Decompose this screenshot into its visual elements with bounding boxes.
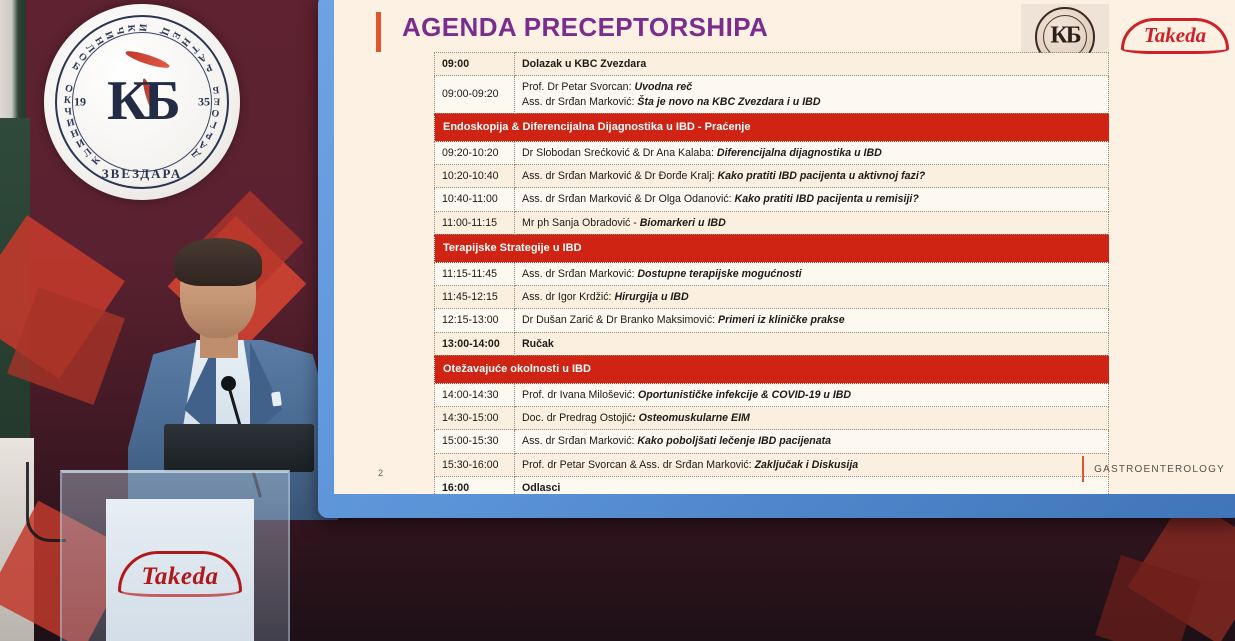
agenda-row: 10:20-10:40Ass. dr Srđan Marković & Dr Đ… <box>435 165 1109 188</box>
agenda-text-segment: Dolazak u KBC Zvezdara <box>522 58 646 70</box>
agenda-row-description: Ass. dr Srđan Marković & Dr Olga Odanovi… <box>515 188 1109 211</box>
agenda-text-segment: Dostupne terapijske mogućnosti <box>637 268 801 280</box>
agenda-row: 16:00Odlasci <box>435 476 1109 494</box>
agenda-row-time: 10:20-10:40 <box>435 165 515 188</box>
page-title: AGENDA PRECEPTORSHIPA <box>402 12 768 43</box>
agenda-row: 10:40-11:00Ass. dr Srđan Marković & Dr O… <box>435 188 1109 211</box>
agenda-row: 09:00-09:20Prof. Dr Petar Svorcan: Uvodn… <box>435 76 1109 114</box>
agenda-row-description: Ass. dr Srđan Marković & Dr Đorđe Kralj:… <box>515 165 1109 188</box>
agenda-text-segment: Ass. dr Srđan Marković & Dr Đorđe Kralj: <box>522 170 717 182</box>
agenda-text-segment: Prof. Dr Petar Svorcan: <box>522 81 634 93</box>
agenda-row-line: Ass. dr Srđan Marković: Šta je novo na K… <box>522 95 1101 109</box>
agenda-section-title: Otežavajuće okolnosti u IBD <box>435 355 1109 383</box>
footer-accent-bar <box>1082 456 1084 482</box>
agenda-row-time: 11:45-12:15 <box>435 286 515 309</box>
agenda-text-segment: Kako poboljšati lečenje IBD pacijenata <box>637 435 831 447</box>
agenda-row-description: Ass. dr Srđan Marković: Kako poboljšati … <box>515 430 1109 453</box>
takeda-logo-podium: Takeda <box>118 551 242 601</box>
slide-footer: GASTROENTEROLOGY <box>1082 456 1225 482</box>
agenda-table: 09:00Dolazak u KBC Zvezdara09:00-09:20Pr… <box>434 52 1109 494</box>
hospital-seal-logo: КЛИНИЧКО БОЛНИЧКИ ЦЕНТАР БЕОГРАД КБ 19 3… <box>44 4 240 200</box>
agenda-row-description: Dr Dušan Zarić & Dr Branko Maksimović: P… <box>515 309 1109 332</box>
agenda-text-segment: Ass. dr Srđan Marković & Dr Olga Odanovi… <box>522 193 735 205</box>
seal-year-left: 19 <box>74 95 86 110</box>
agenda-text-segment: Hirurgija u IBD <box>614 291 688 303</box>
agenda-row: 11:00-11:15Mr ph Sanja Obradović - Bioma… <box>435 211 1109 234</box>
agenda-text-segment: Dr Slobodan Srećković & Dr Ana Kalaba: <box>522 147 717 159</box>
seal-arc-char: Б <box>212 84 220 96</box>
speaker-pocket-square <box>271 391 282 406</box>
agenda-row-time: 13:00-14:00 <box>435 332 515 355</box>
agenda-text-segment: Zaključak i Diskusija <box>755 459 859 471</box>
agenda-text-segment: Primeri iz kliničke prakse <box>718 314 845 326</box>
agenda-row-description: Prof. dr Ivana Milošević: Oportunističke… <box>515 383 1109 406</box>
seal-arc-char: И <box>136 23 148 32</box>
seal-arc-char: К <box>125 24 137 32</box>
agenda-row: 14:30-15:00Doc. dr Predrag Ostojić: Oste… <box>435 407 1109 430</box>
agenda-row: 14:00-14:30Prof. dr Ivana Milošević: Opo… <box>435 383 1109 406</box>
agenda-text-segment: Kako pratiti IBD pacijenta u aktivnoj fa… <box>717 170 925 182</box>
agenda-row-description: Prof. dr Petar Svorcan & Ass. dr Srđan M… <box>515 453 1109 476</box>
agenda-section-title: Endoskopija & Diferencijalna Dijagnostik… <box>435 113 1109 141</box>
agenda-text-segment: Ručak <box>522 338 554 350</box>
agenda-table-body: 09:00Dolazak u KBC Zvezdara09:00-09:20Pr… <box>435 53 1109 495</box>
agenda-row: 11:15-11:45Ass. dr Srđan Marković: Dostu… <box>435 262 1109 285</box>
seal-bottom-text: ЗВЕЗДАРА <box>44 166 240 182</box>
agenda-text-segment: Ass. dr Srđan Marković: <box>522 268 637 280</box>
agenda-row-time: 15:30-16:00 <box>435 453 515 476</box>
microphone-icon <box>221 376 236 391</box>
slide-number: 2 <box>378 468 383 478</box>
agenda-row-time: 11:15-11:45 <box>435 262 515 285</box>
agenda-row: 11:45-12:15Ass. dr Igor Krdžić: Hirurgij… <box>435 286 1109 309</box>
agenda-text-segment: Prof. dr Ivana Milošević: <box>522 389 638 401</box>
agenda-row-time: 10:40-11:00 <box>435 188 515 211</box>
agenda-row-description: Ass. dr Igor Krdžić: Hirurgija u IBD <box>515 286 1109 309</box>
agenda-text-segment: Ass. dr Srđan Marković: <box>522 435 637 447</box>
agenda-row: 15:30-16:00Prof. dr Petar Svorcan & Ass.… <box>435 453 1109 476</box>
title-accent-bar <box>376 12 381 52</box>
projection-screen-bezel: AGENDA PRECEPTORSHIPA КБ Takeda 09:00Dol… <box>318 0 1235 518</box>
agenda-section-title: Terapijske Strategije u IBD <box>435 234 1109 262</box>
agenda-text-segment: Prof. dr Petar Svorcan & Ass. dr Srđan M… <box>522 459 755 471</box>
agenda-row-line: Prof. Dr Petar Svorcan: Uvodna reč <box>522 80 1101 94</box>
agenda-section-header-row: Otežavajuće okolnosti u IBD <box>435 355 1109 383</box>
podium: Takeda <box>60 470 290 641</box>
agenda-row-time: 14:00-14:30 <box>435 383 515 406</box>
agenda-text-segment: Mr ph Sanja Obradović - <box>522 217 640 229</box>
laptop-on-podium <box>164 424 314 472</box>
seal-year-right: 35 <box>198 95 210 110</box>
agenda-text-segment: : Osteomuskularne EIM <box>632 412 750 424</box>
agenda-text-segment: Oportunističke infekcije & COVID-19 u IB… <box>638 389 851 401</box>
seal-arc-char: Ч <box>64 106 72 117</box>
agenda-row-time: 09:00-09:20 <box>435 76 515 114</box>
seal-monogram: КБ <box>107 73 177 129</box>
agenda-text-segment: Dr Dušan Zarić & Dr Branko Maksimović: <box>522 314 718 326</box>
agenda-row-time: 14:30-15:00 <box>435 407 515 430</box>
takeda-wordmark: Takeda <box>141 563 218 591</box>
agenda-section-header-row: Endoskopija & Diferencijalna Dijagnostik… <box>435 113 1109 141</box>
agenda-row: 15:00-15:30Ass. dr Srđan Marković: Kako … <box>435 430 1109 453</box>
agenda-row-description: Prof. Dr Petar Svorcan: Uvodna rečAss. d… <box>515 76 1109 114</box>
agenda-text-segment: Uvodna reč <box>634 81 692 93</box>
agenda-row: 13:00-14:00Ručak <box>435 332 1109 355</box>
takeda-wordmark: Takeda <box>1144 23 1206 48</box>
agenda-row-description: Doc. dr Predrag Ostojić: Osteomuskularne… <box>515 407 1109 430</box>
agenda-row-description: Odlasci <box>515 476 1109 494</box>
presentation-video-frame: КЛИНИЧКО БОЛНИЧКИ ЦЕНТАР БЕОГРАД КБ 19 3… <box>0 0 1235 641</box>
agenda-text-segment: Ass. dr Igor Krdžić: <box>522 291 614 303</box>
speaker-hair <box>174 238 262 286</box>
agenda-text-segment: Šta je novo na KBC Zvezdara i u IBD <box>637 96 820 108</box>
agenda-row-description: Ass. dr Srđan Marković: Dostupne terapij… <box>515 262 1109 285</box>
agenda-text-segment: Odlasci <box>522 482 560 494</box>
takeda-logo-slide: Takeda <box>1121 16 1229 58</box>
agenda-text-segment: Kako pratiti IBD pacijenta u remisiji? <box>735 193 919 205</box>
agenda-row-time: 11:00-11:15 <box>435 211 515 234</box>
podium-sponsor-panel: Takeda <box>106 499 254 641</box>
agenda-section-header-row: Terapijske Strategije u IBD <box>435 234 1109 262</box>
agenda-text-segment: Ass. dr Srđan Marković: <box>522 96 637 108</box>
agenda-row: 12:15-13:00Dr Dušan Zarić & Dr Branko Ma… <box>435 309 1109 332</box>
seal-arc-char: К <box>63 95 71 107</box>
footer-label: GASTROENTEROLOGY <box>1094 464 1225 475</box>
seal-arc-char: Е <box>213 95 220 106</box>
hospital-logo-monogram: КБ <box>1050 22 1079 49</box>
agenda-row: 09:00Dolazak u KBC Zvezdara <box>435 53 1109 76</box>
agenda-row-time: 16:00 <box>435 476 515 494</box>
agenda-text-segment: Doc. dr Predrag Ostojić <box>522 412 632 424</box>
agenda-row-time: 15:00-15:30 <box>435 430 515 453</box>
agenda-row-description: Dolazak u KBC Zvezdara <box>515 53 1109 76</box>
presentation-slide: AGENDA PRECEPTORSHIPA КБ Takeda 09:00Dol… <box>334 0 1235 494</box>
agenda-text-segment: Diferencijalna dijagnostika u IBD <box>717 147 882 159</box>
agenda-row-time: 09:00 <box>435 53 515 76</box>
agenda-row-description: Ručak <box>515 332 1109 355</box>
agenda-row: 09:20-10:20Dr Slobodan Srećković & Dr An… <box>435 141 1109 164</box>
agenda-row-description: Mr ph Sanja Obradović - Biomarkeri u IBD <box>515 211 1109 234</box>
agenda-text-segment: Biomarkeri u IBD <box>640 217 726 229</box>
agenda-row-time: 12:15-13:00 <box>435 309 515 332</box>
agenda-row-description: Dr Slobodan Srećković & Dr Ana Kalaba: D… <box>515 141 1109 164</box>
agenda-row-time: 09:20-10:20 <box>435 141 515 164</box>
